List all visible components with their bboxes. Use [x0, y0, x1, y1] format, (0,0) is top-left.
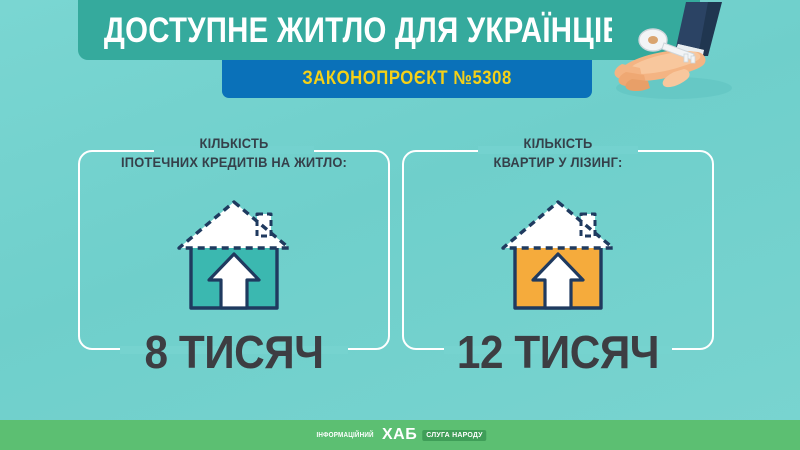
panel-heading: КІЛЬКІСТЬ ІПОТЕЧНИХ КРЕДИТІВ НА ЖИТЛО:: [90, 134, 377, 172]
subtitle-bar: ЗАКОНОПРОЄКТ №5308: [222, 60, 592, 98]
house-icon-wrapper: [78, 192, 390, 317]
stat-panel-leasing: КІЛЬКІСТЬ КВАРТИР У ЛІЗИНГ: 12 ТИСЯЧ: [402, 150, 714, 350]
header-bar: ДОСТУПНЕ ЖИТЛО ДЛЯ УКРАЇНЦІВ: [78, 0, 698, 60]
house-with-up-arrow-icon: [169, 192, 299, 317]
stat-panel-mortgages: КІЛЬКІСТЬ ІПОТЕЧНИХ КРЕДИТІВ НА ЖИТЛО: 8…: [78, 150, 390, 350]
house-with-up-arrow-icon: [493, 192, 623, 317]
panel-heading-line-1: КІЛЬКІСТЬ: [524, 135, 593, 151]
hand-holding-key-icon: [612, 0, 800, 116]
footer-logo-word-1: ІНФОРМАЦІЙНИЙ: [316, 432, 373, 439]
bill-number-label: ЗАКОНОПРОЄКТ №5308: [302, 68, 512, 90]
panel-heading: КІЛЬКІСТЬ КВАРТИР У ЛІЗИНГ:: [414, 134, 701, 172]
footer-logo-word-2: ХАБ: [382, 426, 417, 444]
panel-heading-line-2: ІПОТЕЧНИХ КРЕДИТІВ НА ЖИТЛО:: [90, 153, 377, 172]
infographic-canvas: ДОСТУПНЕ ЖИТЛО ДЛЯ УКРАЇНЦІВ ЗАКОНОПРОЄК…: [0, 0, 800, 450]
page-title: ДОСТУПНЕ ЖИТЛО ДЛЯ УКРАЇНЦІВ: [123, 0, 593, 60]
panel-value: 8 ТИСЯЧ: [90, 326, 377, 378]
panel-value: 12 ТИСЯЧ: [414, 326, 701, 378]
footer-party-badge: СЛУГА НАРОДУ: [422, 430, 487, 441]
footer-logo[interactable]: ІНФОРМАЦІЙНИЙ ХАБ СЛУГА НАРОДУ: [313, 426, 486, 444]
footer-bar: ІНФОРМАЦІЙНИЙ ХАБ СЛУГА НАРОДУ: [0, 420, 800, 450]
panel-heading-line-1: КІЛЬКІСТЬ: [200, 135, 269, 151]
panel-heading-line-2: КВАРТИР У ЛІЗИНГ:: [414, 153, 701, 172]
house-icon-wrapper: [402, 192, 714, 317]
